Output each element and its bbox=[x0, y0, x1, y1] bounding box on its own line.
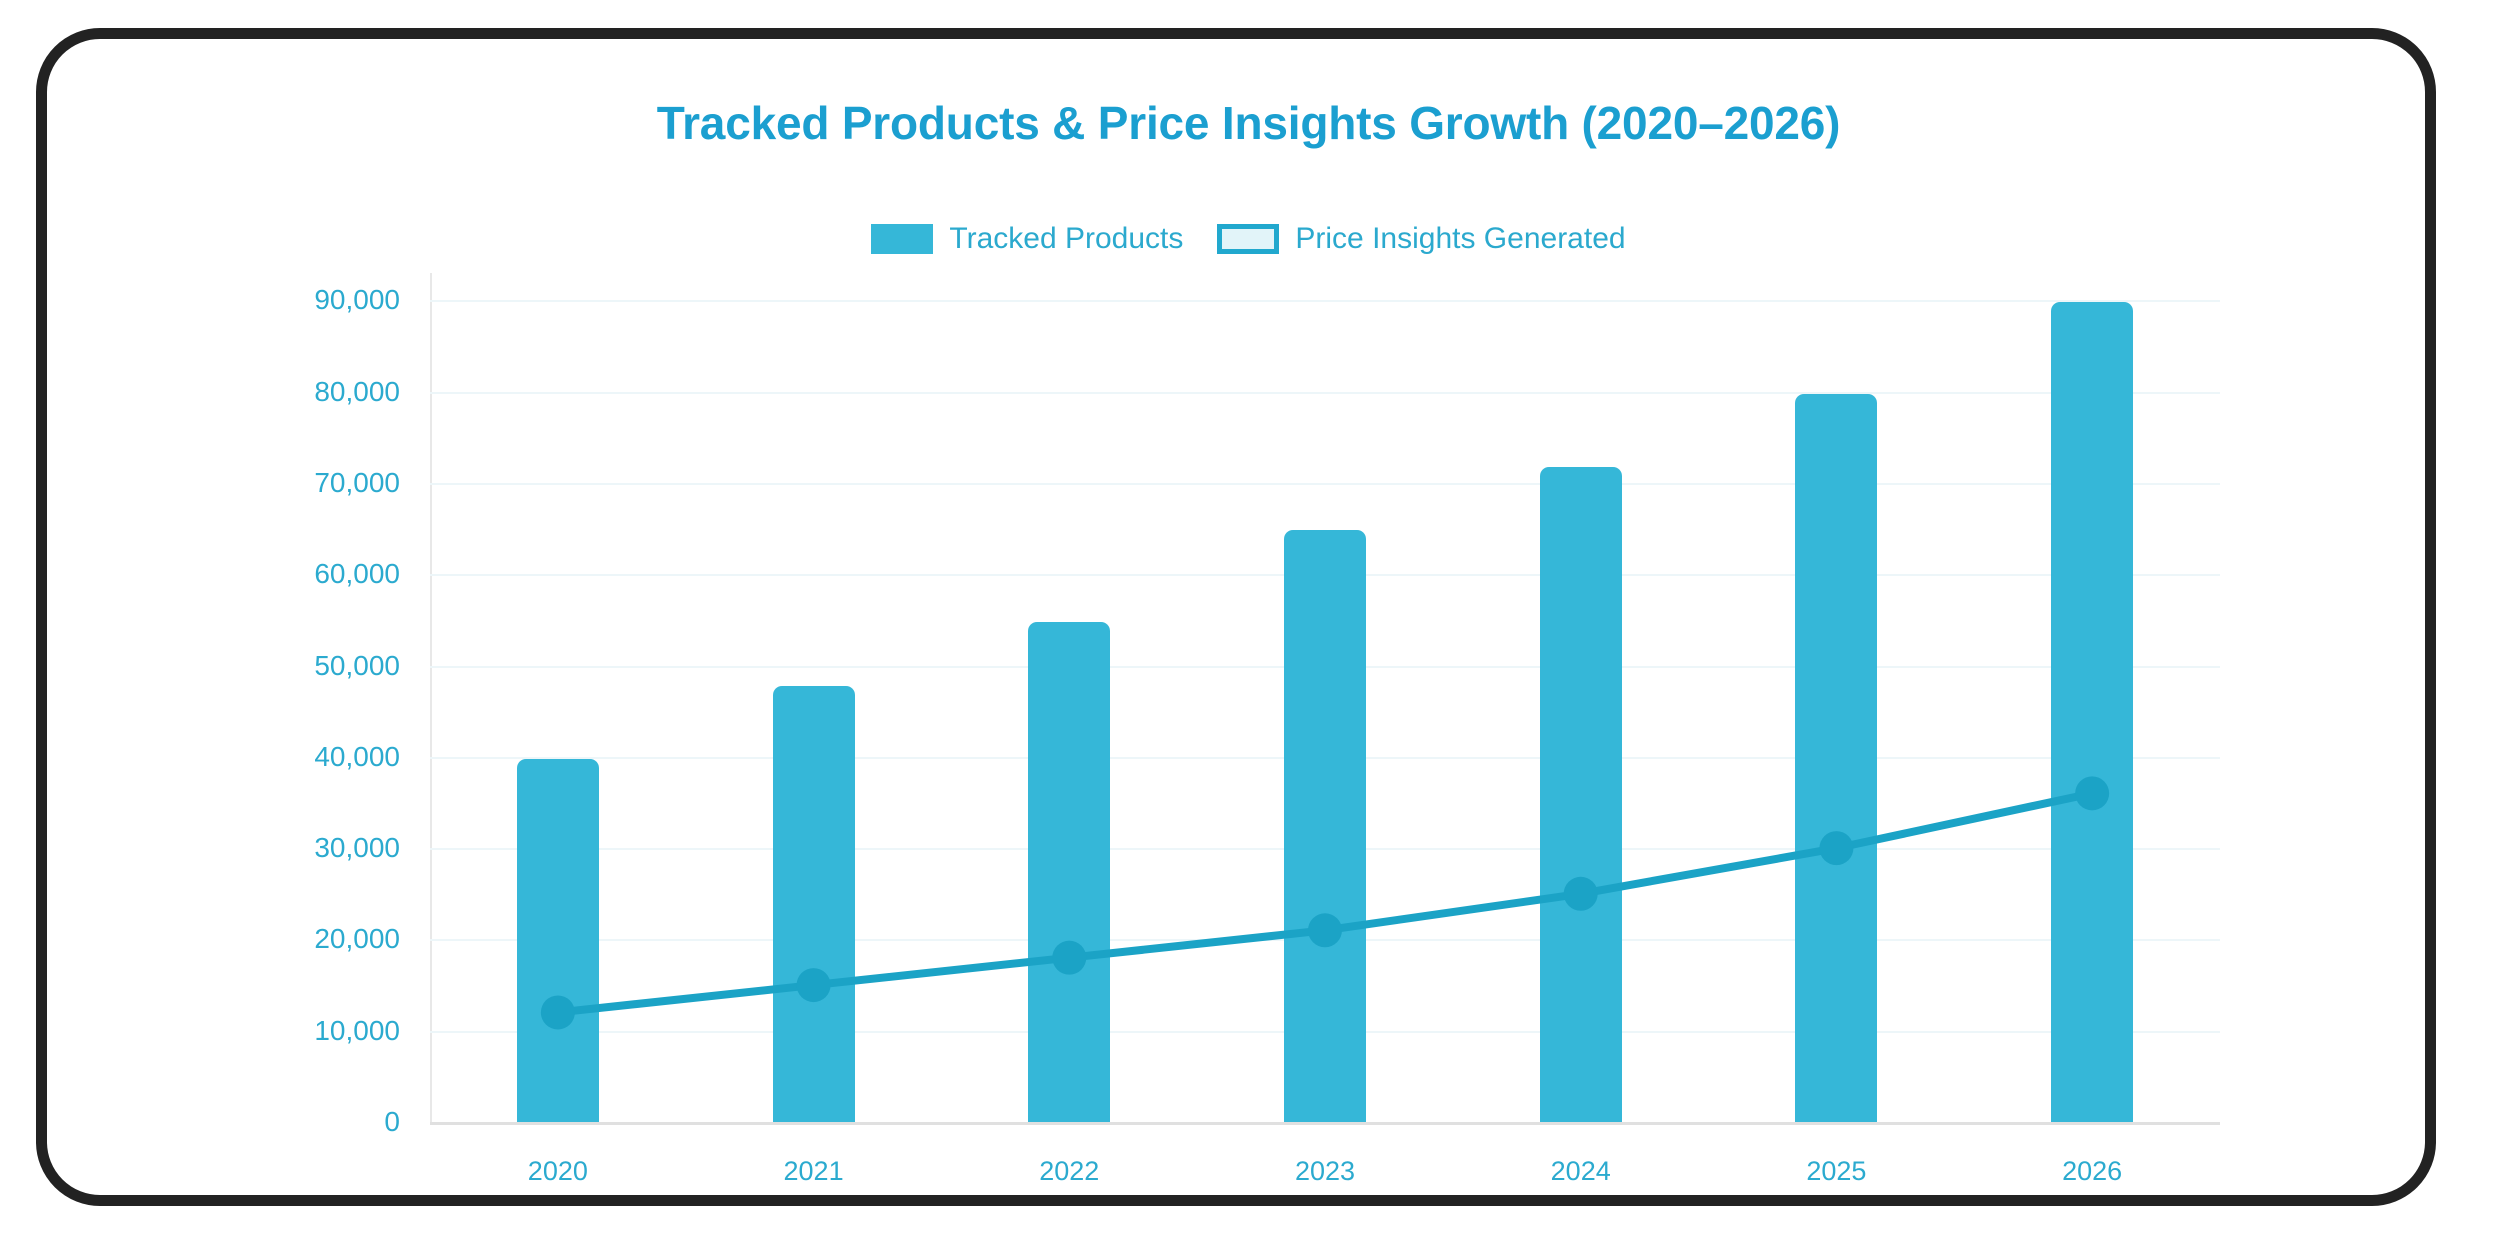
bar[interactable] bbox=[517, 759, 599, 1122]
bar[interactable] bbox=[1028, 622, 1110, 1122]
legend-label: Tracked Products bbox=[949, 222, 1183, 256]
legend-swatch-outline-icon bbox=[1217, 224, 1279, 254]
legend-item-tracked-products[interactable]: Tracked Products bbox=[871, 222, 1183, 256]
legend-item-price-insights[interactable]: Price Insights Generated bbox=[1217, 222, 1625, 256]
legend-label: Price Insights Generated bbox=[1295, 222, 1625, 256]
y-axis-tick-label: 30,000 bbox=[230, 832, 400, 864]
bar[interactable] bbox=[2051, 302, 2133, 1122]
gridline bbox=[430, 1122, 2220, 1125]
bar[interactable] bbox=[1795, 394, 1877, 1122]
y-axis-tick-label: 90,000 bbox=[230, 284, 400, 316]
x-axis-tick-label: 2025 bbox=[1806, 1156, 1866, 1187]
y-axis-tick-label: 70,000 bbox=[230, 467, 400, 499]
x-axis-tick-label: 2020 bbox=[528, 1156, 588, 1187]
y-axis-tick-label: 60,000 bbox=[230, 558, 400, 590]
chart-legend: Tracked Products Price Insights Generate… bbox=[0, 222, 2497, 256]
x-axis-tick-label: 2022 bbox=[1039, 1156, 1099, 1187]
y-axis-tick-label: 50,000 bbox=[230, 650, 400, 682]
x-axis-tick-label: 2023 bbox=[1295, 1156, 1355, 1187]
y-axis-tick-label: 40,000 bbox=[230, 741, 400, 773]
bar[interactable] bbox=[773, 686, 855, 1122]
y-axis-tick-label: 20,000 bbox=[230, 923, 400, 955]
legend-swatch-filled-icon bbox=[871, 224, 933, 254]
y-axis-tick-label: 80,000 bbox=[230, 376, 400, 408]
x-axis-tick-label: 2024 bbox=[1551, 1156, 1611, 1187]
bar[interactable] bbox=[1284, 530, 1366, 1122]
chart-card: Tracked Products & Price Insights Growth… bbox=[0, 0, 2497, 1240]
y-axis-tick-label: 0 bbox=[230, 1106, 400, 1138]
x-axis-tick-label: 2021 bbox=[784, 1156, 844, 1187]
chart-title: Tracked Products & Price Insights Growth… bbox=[0, 96, 2497, 150]
bar-series-tracked-products bbox=[430, 273, 2220, 1122]
x-axis-tick-label: 2026 bbox=[2062, 1156, 2122, 1187]
bar[interactable] bbox=[1540, 467, 1622, 1122]
y-axis-tick-label: 10,000 bbox=[230, 1015, 400, 1047]
